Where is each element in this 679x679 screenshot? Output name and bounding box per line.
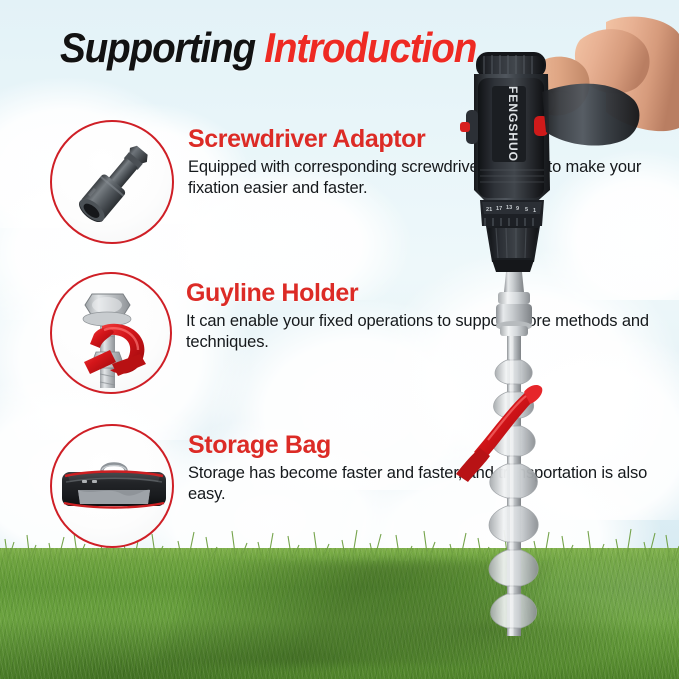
clutch-mark: 9 (516, 206, 519, 212)
clutch-mark: 13 (506, 205, 512, 211)
feature-icon-badge (50, 272, 172, 394)
drill-brand-label: FENGSHUO (506, 86, 520, 162)
title-word-supporting: Supporting (60, 24, 255, 71)
page-title: SupportingIntroduction (60, 24, 476, 72)
clutch-mark: 17 (496, 206, 502, 212)
feature-icon-badge (50, 120, 174, 244)
drill-and-auger-illustration: FENGSHUO 21 17 13 (430, 0, 679, 679)
feature-icon-badge (50, 424, 174, 548)
drill-chuck (486, 226, 540, 272)
guyline-holder-icon (52, 274, 172, 394)
clutch-mark: 5 (525, 207, 528, 213)
storage-bag-icon (52, 426, 174, 548)
product-photo: FENGSHUO 21 17 13 (430, 0, 679, 679)
clutch-mark: 21 (486, 207, 492, 213)
ground-auger-stake (456, 272, 542, 636)
screwdriver-adaptor-icon (52, 122, 174, 244)
drill-clutch-collar: 21 17 13 9 5 1 (480, 200, 544, 226)
clutch-mark: 1 (533, 208, 536, 214)
infographic-canvas: SupportingIntroduction (0, 0, 679, 679)
